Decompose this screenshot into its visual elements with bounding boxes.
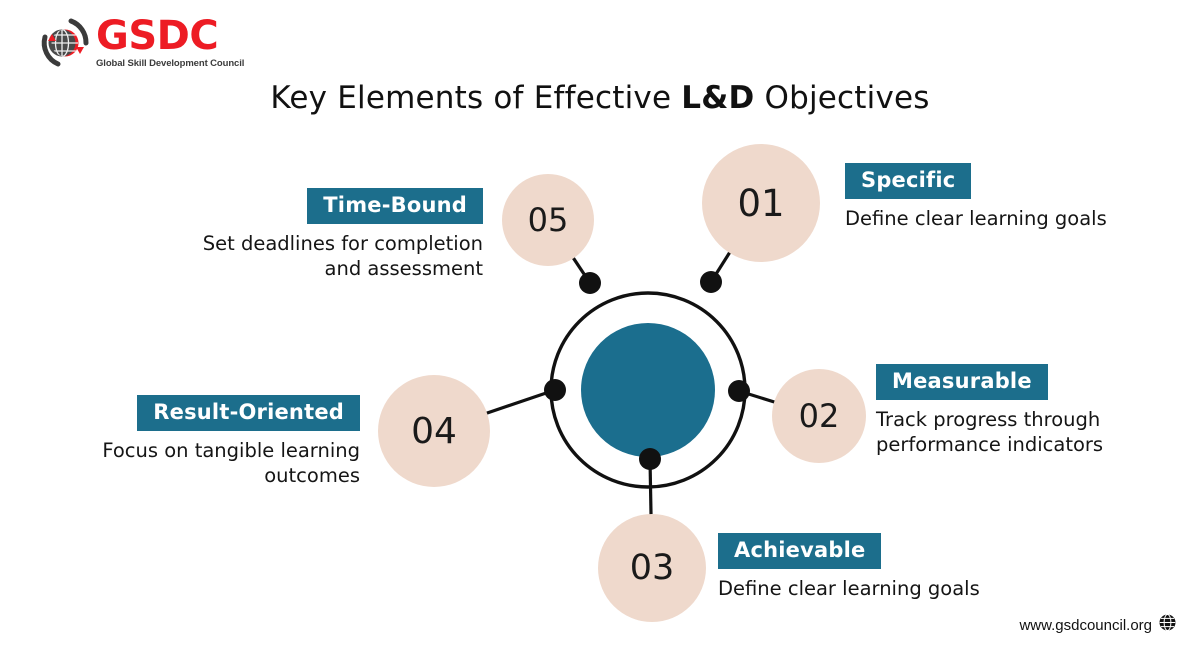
hub-node-dot-05	[579, 272, 601, 294]
number-circle-05[interactable]: 05	[502, 174, 594, 266]
number-circle-03[interactable]: 03	[598, 514, 706, 622]
hub-node-dot-01	[700, 271, 722, 293]
badge-specific[interactable]: Specific	[845, 163, 971, 199]
footer: www.gsdcouncil.org	[1019, 614, 1176, 636]
number-circle-02[interactable]: 02	[772, 369, 866, 463]
badge-achievable[interactable]: Achievable	[718, 533, 881, 569]
infographic-canvas: GSDC Global Skill Development Council Ke…	[0, 0, 1200, 650]
description-01: Define clear learning goals	[845, 206, 1175, 231]
item-block-04: Result-OrientedFocus on tangible learnin…	[50, 395, 360, 488]
hub-and-spoke-diagram: 0102030405 SpecificDefine clear learning…	[0, 0, 1200, 650]
hub-node-dot-03	[639, 448, 661, 470]
description-04: Focus on tangible learning outcomes	[50, 438, 360, 488]
description-05: Set deadlines for completion and assessm…	[148, 231, 483, 281]
badge-result-oriented[interactable]: Result-Oriented	[137, 395, 360, 431]
description-02: Track progress through performance indic…	[876, 407, 1176, 457]
hub-node-dot-02	[728, 380, 750, 402]
item-block-05: Time-BoundSet deadlines for completion a…	[148, 188, 483, 281]
number-circle-04[interactable]: 04	[378, 375, 490, 487]
badge-time-bound[interactable]: Time-Bound	[307, 188, 483, 224]
item-block-01: SpecificDefine clear learning goals	[845, 163, 1175, 231]
badge-measurable[interactable]: Measurable	[876, 364, 1048, 400]
item-block-03: AchievableDefine clear learning goals	[718, 533, 1048, 601]
footer-url[interactable]: www.gsdcouncil.org	[1019, 617, 1152, 634]
number-circle-01[interactable]: 01	[702, 144, 820, 262]
hub-inner-circle	[581, 323, 715, 457]
description-03: Define clear learning goals	[718, 576, 1048, 601]
item-block-02: MeasurableTrack progress through perform…	[876, 364, 1176, 457]
globe-icon	[1159, 614, 1176, 636]
hub-node-dot-04	[544, 379, 566, 401]
